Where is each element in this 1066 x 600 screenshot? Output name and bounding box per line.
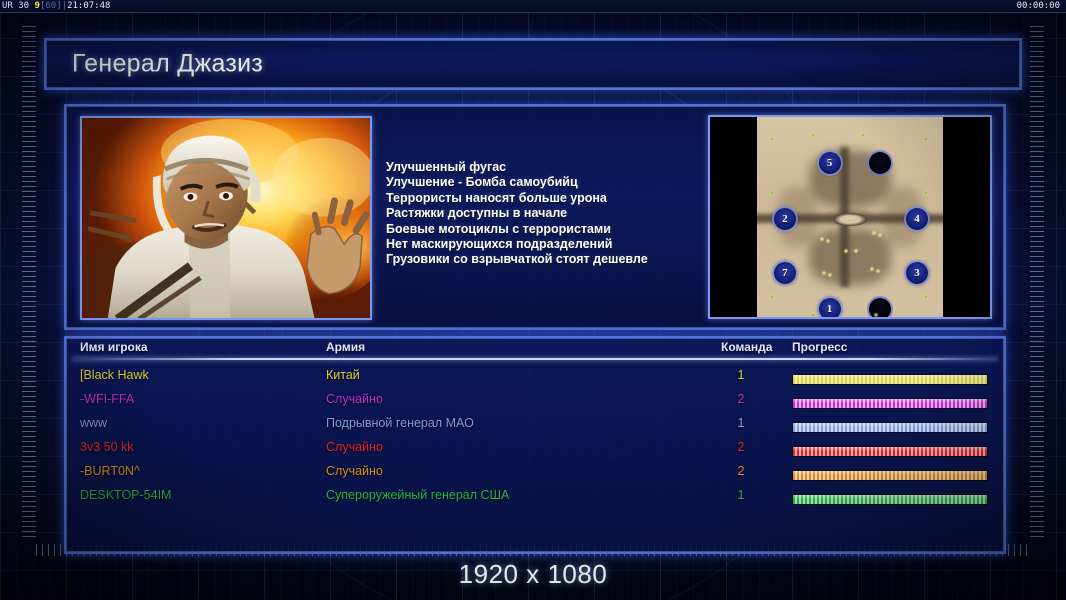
minimap-start-slot-4[interactable]: 4 bbox=[906, 208, 928, 230]
minimap-resource-dot bbox=[854, 250, 857, 253]
progress-bar-gloss bbox=[793, 471, 987, 475]
minimap-resource-dot bbox=[821, 238, 824, 241]
minimap-terrain: 524731 bbox=[757, 117, 943, 317]
minimap-resource-dot bbox=[925, 138, 928, 141]
performance-readout: UR 30 9[60]|21:07:48 bbox=[2, 0, 110, 13]
player-team: 1 bbox=[721, 416, 761, 430]
progress-bar-gloss bbox=[793, 423, 987, 427]
player-name: 3v3 50 kk bbox=[80, 440, 134, 454]
player-army: Супероружейный генерал США bbox=[326, 488, 509, 502]
ruler-right bbox=[1030, 26, 1044, 540]
fps-value: 30 bbox=[18, 1, 29, 11]
general-info-panel: Улучшенный фугас Улучшение - Бомба самоу… bbox=[64, 104, 1006, 330]
player-progress bbox=[792, 464, 988, 475]
progress-bar-gloss bbox=[793, 399, 987, 403]
player-name: DESKTOP-54IM bbox=[80, 488, 171, 502]
match-timer: 00:00:00 bbox=[1017, 0, 1060, 13]
minimap-resource-dot bbox=[770, 296, 773, 299]
page-title: Генерал Джазиз bbox=[72, 50, 263, 79]
table-row[interactable]: -WFI-FFAСлучайно2 bbox=[66, 388, 1004, 412]
column-header-team: Команда bbox=[721, 340, 761, 354]
player-name: [Black Hawk bbox=[80, 368, 149, 382]
minimap-start-slot-empty[interactable] bbox=[869, 152, 891, 174]
progress-bar-fill bbox=[793, 495, 987, 504]
player-roster-panel: Имя игрока Армия Команда Прогресс [Black… bbox=[64, 336, 1006, 554]
general-portrait-frame bbox=[80, 116, 372, 320]
table-row[interactable]: DESKTOP-54IMСупероружейный генерал США1 bbox=[66, 484, 1004, 508]
minimap-resource-dot bbox=[925, 296, 928, 299]
minimap-resource-dot bbox=[878, 234, 881, 237]
minimap-resource-dot bbox=[845, 250, 848, 253]
player-team: 1 bbox=[721, 368, 761, 382]
player-team: 1 bbox=[721, 488, 761, 502]
player-army: Случайно bbox=[326, 464, 383, 478]
progress-bar-fill bbox=[793, 423, 987, 432]
minimap-resource-dot bbox=[826, 240, 829, 243]
minimap-resource-dot bbox=[876, 270, 879, 273]
player-progress bbox=[792, 488, 988, 499]
minimap-start-slot-7[interactable]: 7 bbox=[774, 262, 796, 284]
system-clock: 21:07:48 bbox=[67, 1, 110, 11]
progress-bar bbox=[792, 470, 988, 481]
progress-bar-gloss bbox=[793, 447, 987, 451]
player-army: Случайно bbox=[326, 392, 383, 406]
table-row[interactable]: [Black HawkКитай1 bbox=[66, 364, 1004, 388]
minimap-resource-dot bbox=[770, 138, 773, 141]
player-name: www bbox=[80, 416, 107, 430]
progress-bar bbox=[792, 494, 988, 505]
minimap-resource-dot bbox=[811, 134, 814, 137]
minimap-start-slot-3[interactable]: 3 bbox=[906, 262, 928, 284]
player-name: -WFI-FFA bbox=[80, 392, 134, 406]
column-header-army: Армия bbox=[326, 340, 365, 354]
minimap-resource-dot bbox=[822, 272, 825, 275]
roster-header-row: Имя игрока Армия Команда Прогресс bbox=[66, 338, 1004, 360]
header-divider bbox=[72, 358, 998, 360]
progress-bar bbox=[792, 422, 988, 433]
table-row[interactable]: wwwПодрывной генерал МАО1 bbox=[66, 412, 1004, 436]
player-team: 2 bbox=[721, 392, 761, 406]
minimap-resource-dot bbox=[875, 314, 878, 317]
general-portrait-image bbox=[82, 118, 370, 319]
progress-bar-fill bbox=[793, 399, 987, 408]
player-team: 2 bbox=[721, 440, 761, 454]
minimap-start-slot-5[interactable]: 5 bbox=[819, 152, 841, 174]
column-header-name: Имя игрока bbox=[80, 340, 148, 354]
progress-bar-fill bbox=[793, 471, 987, 480]
header-panel: Генерал Джазиз bbox=[44, 38, 1022, 90]
player-progress bbox=[792, 392, 988, 403]
minimap-resource-dot bbox=[828, 274, 831, 277]
player-name: -BURT0N^ bbox=[80, 464, 140, 478]
minimap-start-slot-empty[interactable] bbox=[869, 298, 891, 317]
progress-bar bbox=[792, 446, 988, 457]
resolution-caption: 1920 x 1080 bbox=[0, 559, 1066, 590]
minimap-resource-dot bbox=[770, 192, 773, 195]
column-header-progress: Прогресс bbox=[792, 340, 988, 354]
progress-bar-gloss bbox=[793, 375, 987, 379]
minimap-resource-dot bbox=[871, 268, 874, 271]
player-progress bbox=[792, 416, 988, 427]
player-army: Подрывной генерал МАО bbox=[326, 416, 474, 430]
progress-bar bbox=[792, 374, 988, 385]
progress-bar bbox=[792, 398, 988, 409]
progress-bar-gloss bbox=[793, 495, 987, 499]
player-army: Случайно bbox=[326, 440, 383, 454]
player-army: Китай bbox=[326, 368, 360, 382]
fps-label: UR bbox=[2, 1, 13, 11]
minimap-frame[interactable]: 524731 bbox=[708, 115, 992, 319]
game-lobby-screen: UR 30 9[60]|21:07:48 00:00:00 Генерал Дж… bbox=[0, 0, 1066, 600]
progress-bar-fill bbox=[793, 447, 987, 456]
table-row[interactable]: 3v3 50 kkСлучайно2 bbox=[66, 436, 1004, 460]
ping-max: [60] bbox=[40, 1, 62, 11]
minimap-start-slot-2[interactable]: 2 bbox=[774, 208, 796, 230]
minimap-resource-dot bbox=[811, 314, 814, 317]
progress-bar-fill bbox=[793, 375, 987, 384]
top-status-bar: UR 30 9[60]|21:07:48 00:00:00 bbox=[0, 0, 1066, 13]
player-team: 2 bbox=[721, 464, 761, 478]
minimap-resource-dot bbox=[873, 232, 876, 235]
minimap-resource-dot bbox=[925, 192, 928, 195]
table-row[interactable]: -BURT0N^Случайно2 bbox=[66, 460, 1004, 484]
ruler-left bbox=[22, 26, 36, 540]
minimap-resource-dot bbox=[862, 134, 865, 137]
minimap-start-slot-1[interactable]: 1 bbox=[819, 298, 841, 317]
player-progress bbox=[792, 440, 988, 451]
player-progress bbox=[792, 368, 988, 379]
